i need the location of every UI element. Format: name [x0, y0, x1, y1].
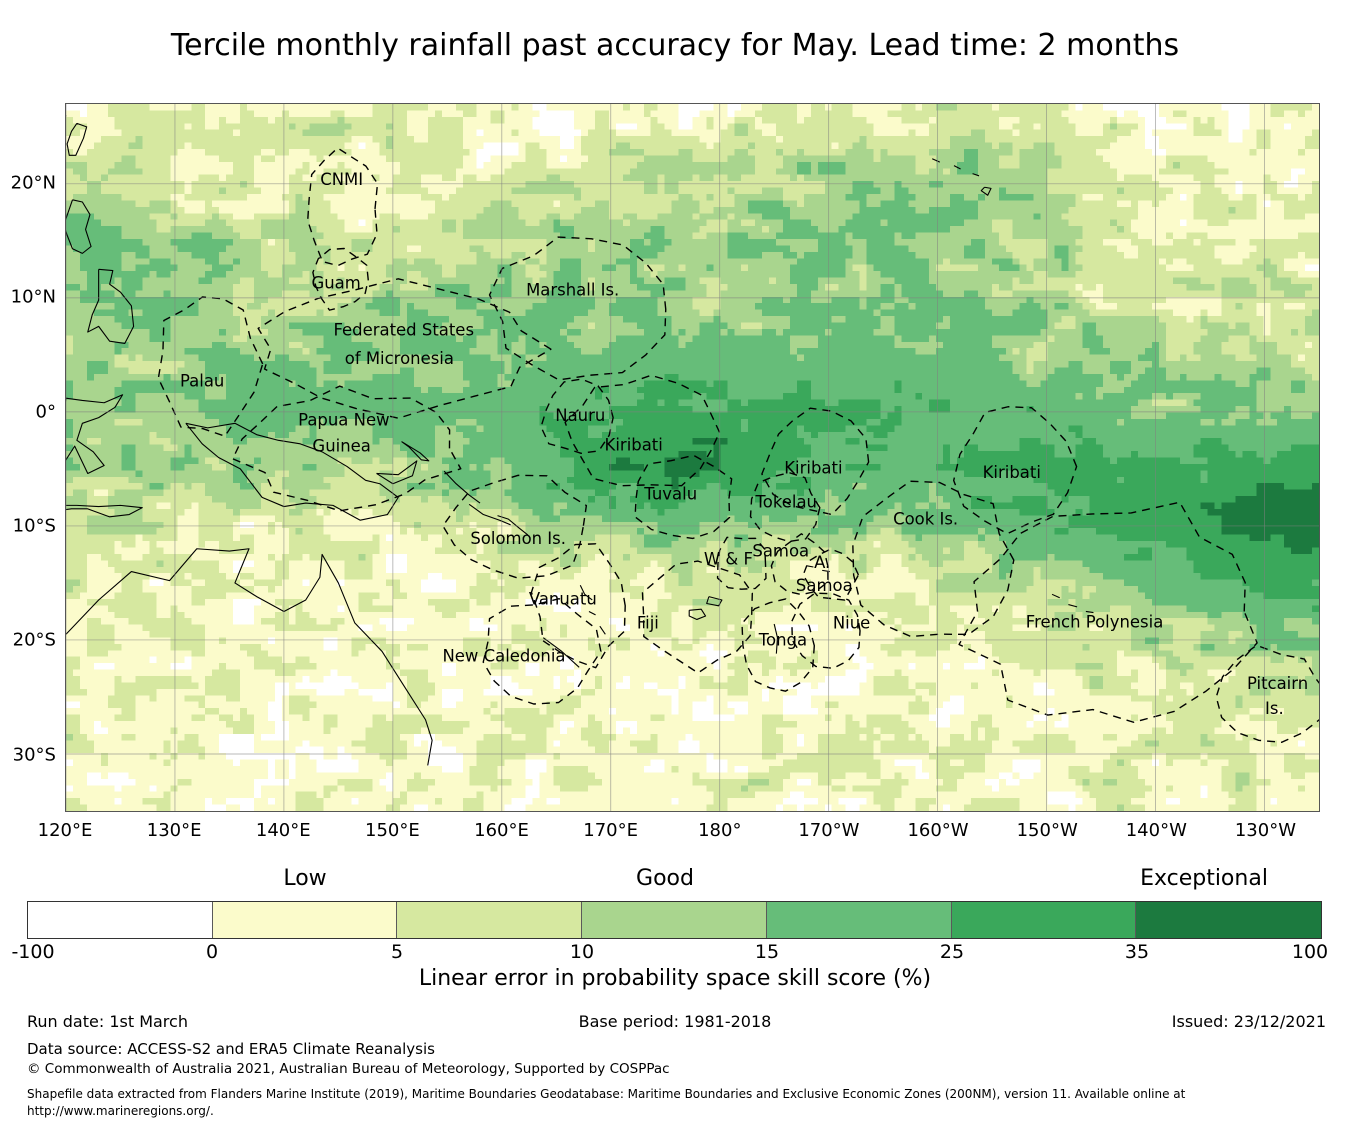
y-tick-label: 30°S — [0, 744, 56, 765]
colorbar-tick-label: 25 — [940, 941, 964, 963]
colorbar-segment[interactable] — [1136, 902, 1321, 938]
eez-label: Kiribati — [784, 458, 842, 477]
eez-label: Kiribati — [983, 463, 1041, 482]
colorbar-segment[interactable] — [28, 902, 213, 938]
y-tick-label: 20°N — [0, 173, 56, 194]
eez-label: Fiji — [637, 614, 659, 633]
eez-label: Cook Is. — [893, 510, 958, 529]
colorbar-quality-label: Exceptional — [1140, 866, 1268, 891]
footer-base-period: Base period: 1981-2018 — [0, 1012, 1350, 1031]
colorbar-tick-label: 15 — [755, 941, 779, 963]
eez-label: of Micronesia — [345, 349, 454, 368]
map-canvas[interactable]: CNMIGuamMarshall Is.Federated Statesof M… — [66, 104, 1319, 811]
colorbar-container[interactable] — [27, 901, 1322, 939]
colorbar-axis-label: Linear error in probability space skill … — [0, 966, 1350, 991]
eez-label: Tokelau — [754, 493, 817, 512]
x-tick-label: 130°W — [1235, 820, 1296, 841]
eez-label: Solomon Is. — [470, 529, 566, 548]
x-tick-label: 170°W — [798, 820, 859, 841]
x-tick-label: 120°E — [38, 820, 93, 841]
colorbar[interactable] — [27, 901, 1322, 939]
x-tick-label: 130°E — [147, 820, 202, 841]
eez-label: Tuvalu — [643, 485, 697, 504]
x-tick-label: 140°W — [1126, 820, 1187, 841]
figure-root: Tercile monthly rainfall past accuracy f… — [0, 0, 1350, 1125]
footer-issued-date: Issued: 23/12/2021 — [1172, 1012, 1326, 1031]
colorbar-segment[interactable] — [213, 902, 398, 938]
x-tick-label: 150°W — [1017, 820, 1078, 841]
colorbar-segment[interactable] — [582, 902, 767, 938]
colorbar-tick-label: 10 — [570, 941, 594, 963]
eez-label: New Caledonia — [442, 647, 565, 666]
eez-label: Samoa — [796, 576, 853, 595]
eez-label: Papua New — [298, 411, 389, 430]
colorbar-quality-label: Good — [636, 866, 694, 891]
eez-label: Nauru — [555, 406, 605, 425]
x-tick-label: 140°E — [256, 820, 311, 841]
eez-label: Guinea — [312, 437, 370, 456]
y-tick-label: 10°S — [0, 516, 56, 537]
x-tick-label: 150°E — [365, 820, 420, 841]
colorbar-segment[interactable] — [767, 902, 952, 938]
eez-label: CNMI — [320, 170, 363, 189]
map-panel[interactable]: CNMIGuamMarshall Is.Federated Statesof M… — [65, 103, 1320, 812]
y-tick-label: 20°S — [0, 630, 56, 651]
colorbar-tick-label: 5 — [391, 941, 403, 963]
eez-label: French Polynesia — [1026, 612, 1164, 631]
colorbar-quality-label: Low — [283, 866, 326, 891]
colorbar-tick-label: 35 — [1125, 941, 1149, 963]
eez-label: Vanuatu — [529, 590, 597, 609]
colorbar-tick-label: -100 — [11, 941, 54, 963]
footer-shapefile-note: Shapefile data extracted from Flanders M… — [27, 1086, 1327, 1120]
x-tick-label: 160°E — [474, 820, 529, 841]
eez-label: Niue — [833, 614, 870, 633]
eez-label: Tonga — [758, 631, 807, 650]
colorbar-segment[interactable] — [952, 902, 1137, 938]
footer-copyright: © Commonwealth of Australia 2021, Austra… — [27, 1061, 670, 1077]
skill-score-heatmap — [66, 104, 1319, 811]
eez-label: W & F — [704, 550, 753, 569]
eez-label: Federated States — [333, 320, 474, 339]
x-tick-label: 160°W — [907, 820, 968, 841]
colorbar-segment[interactable] — [397, 902, 582, 938]
eez-label: Palau — [180, 372, 224, 391]
eez-label: A. — [814, 553, 830, 572]
colorbar-tick-label: 0 — [206, 941, 218, 963]
eez-label: Pitcairn — [1247, 674, 1308, 693]
eez-label: Is. — [1265, 699, 1284, 718]
page-title: Tercile monthly rainfall past accuracy f… — [0, 28, 1350, 63]
eez-label: Samoa — [752, 542, 809, 561]
eez-label: Guam — [312, 274, 361, 293]
y-tick-label: 10°N — [0, 287, 56, 308]
eez-label: Kiribati — [605, 436, 663, 455]
footer-data-source: Data source: ACCESS-S2 and ERA5 Climate … — [27, 1040, 435, 1058]
y-tick-label: 0° — [0, 401, 56, 422]
x-tick-label: 170°E — [583, 820, 638, 841]
colorbar-tick-label: 100 — [1292, 941, 1328, 963]
eez-label: Marshall Is. — [526, 280, 619, 299]
x-tick-label: 180° — [698, 820, 741, 841]
